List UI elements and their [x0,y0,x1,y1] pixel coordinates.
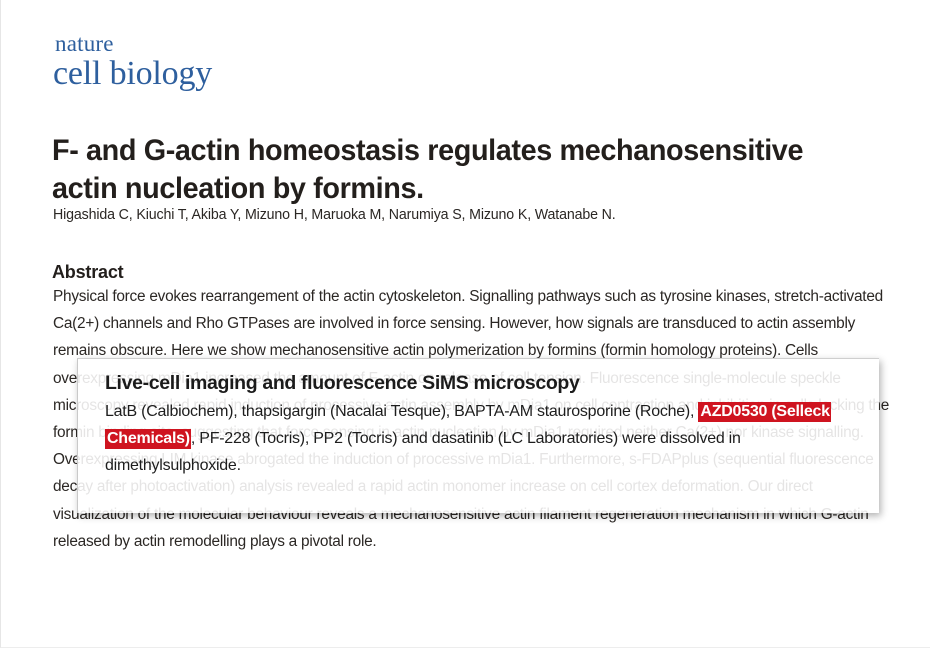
abstract-heading: Abstract [52,262,123,283]
overlay-popup-card[interactable]: Live-cell imaging and fluorescence SiMS … [77,358,879,513]
author-list: Higashida C, Kiuchi T, Akiba Y, Mizuno H… [53,207,876,223]
journal-logo-nature: nature [55,32,212,55]
overlay-content: Live-cell imaging and fluorescence SiMS … [105,370,871,479]
overlay-body-text: LatB (Calbiochem), thapsigargin (Nacalai… [105,398,865,479]
overlay-text-after-highlight: , PF-228 (Tocris), PP2 (Tocris) and dasa… [105,430,741,474]
overlay-text-before-highlight: LatB (Calbiochem), thapsigargin (Nacalai… [105,403,698,420]
document-page: nature cell biology F- and G-actin homeo… [0,0,930,648]
journal-logo: nature cell biology [53,32,212,91]
page-title: F- and G-actin homeostasis regulates mec… [52,132,849,209]
overlay-title: Live-cell imaging and fluorescence SiMS … [105,370,871,396]
journal-logo-cell-biology: cell biology [53,57,212,91]
